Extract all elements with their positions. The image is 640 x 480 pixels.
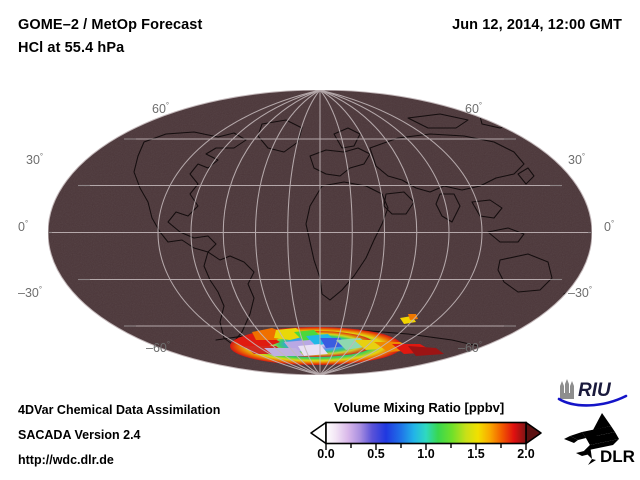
colorbar-tick-4: 2.0 [517, 447, 534, 461]
colorbar-under-arrow [311, 423, 326, 444]
lat-label-left-0: 0° [18, 219, 28, 234]
map-panel: 60° 30° 0° –30° –60° 60° 30° 0° –30° –60… [0, 80, 640, 385]
lat-label-right-minus30: –30° [568, 285, 592, 300]
footer-version-label: SACADA Version 2.4 [18, 428, 141, 442]
lat-label-right-60: 60° [465, 101, 482, 116]
globe-svg [48, 90, 592, 375]
lat-label-left-30: 30° [26, 152, 43, 167]
dlr-logo-svg: DLR [562, 412, 636, 466]
lat-label-left-minus60: –60° [146, 340, 170, 355]
lat-label-right-minus60: –60° [458, 340, 482, 355]
colorbar-tick-0: 0.0 [317, 447, 334, 461]
riu-logo: RIU [556, 377, 632, 409]
riu-wordmark: RIU [578, 380, 612, 401]
colorbar-gradient [326, 423, 526, 444]
lat-label-left-minus30: –30° [18, 285, 42, 300]
dlr-wordmark: DLR [600, 447, 635, 466]
riu-logo-svg: RIU [556, 377, 632, 409]
riu-tower-icon [560, 379, 574, 399]
mollweide-globe [48, 90, 592, 375]
lat-label-right-0: 0° [604, 219, 614, 234]
colorbar-over-arrow [526, 423, 541, 444]
colorbar [308, 421, 544, 445]
page-title: GOME–2 / MetOp Forecast [18, 17, 202, 33]
footer-url-link[interactable]: http://wdc.dlr.de [18, 453, 114, 467]
dlr-logo: DLR [562, 412, 636, 466]
lat-label-left-60: 60° [152, 101, 169, 116]
figure-canvas: GOME–2 / MetOp Forecast HCl at 55.4 hPa … [0, 0, 640, 480]
colorbar-title: Volume Mixing Ratio [ppbv] [334, 400, 504, 415]
colorbar-tick-1: 0.5 [367, 447, 384, 461]
colorbar-tick-2: 1.0 [417, 447, 434, 461]
colorbar-tick-labels: 0.0 0.5 1.0 1.5 2.0 [308, 447, 544, 465]
colorbar-svg [308, 421, 544, 445]
species-subtitle: HCl at 55.4 hPa [18, 40, 124, 56]
colorbar-tick-3: 1.5 [467, 447, 484, 461]
footer-method-label: 4DVar Chemical Data Assimilation [18, 403, 220, 417]
lat-label-right-30: 30° [568, 152, 585, 167]
timestamp-label: Jun 12, 2014, 12:00 GMT [452, 17, 622, 33]
